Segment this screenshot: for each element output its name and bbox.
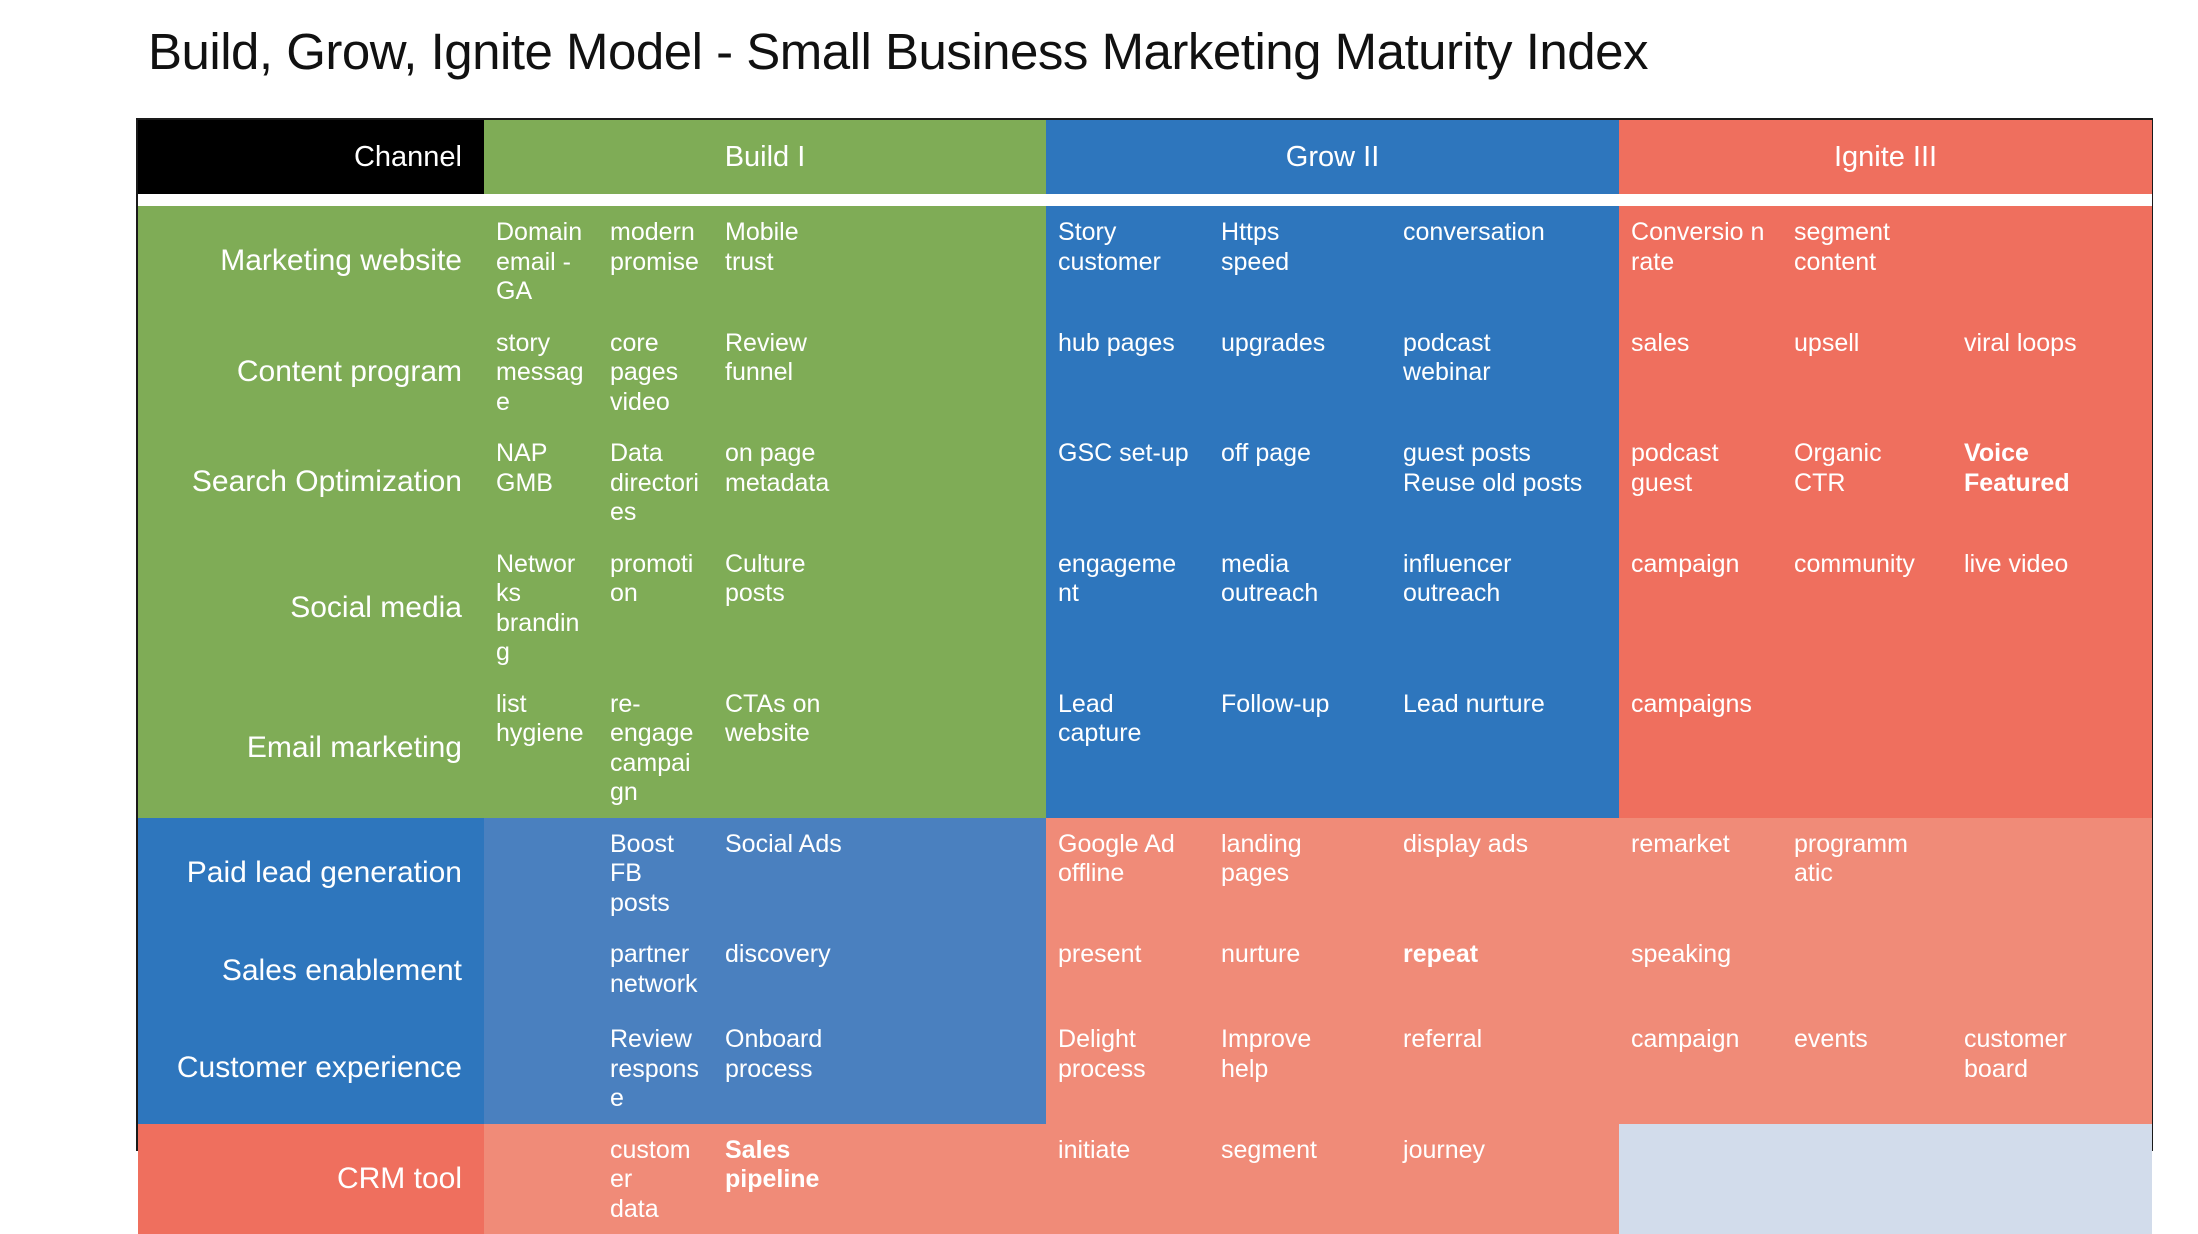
matrix-cell[interactable]: segmentcontent [1782, 206, 1952, 317]
matrix-cell[interactable]: on pagemetadata [713, 427, 1046, 538]
header-spacer-cell [138, 194, 2152, 206]
matrix-cell[interactable] [1782, 1124, 1952, 1234]
row-channel-label: Email marketing [138, 678, 484, 818]
header-group-build: Build I [484, 120, 1046, 194]
row-channel-label: Customer experience [138, 1013, 484, 1124]
maturity-matrix-table: Channel Build I Grow II Ignite III Marke… [138, 120, 2152, 1234]
table-row: Search OptimizationNAPGMBDatadirectories… [138, 427, 2152, 538]
matrix-cell[interactable]: storymessage [484, 317, 598, 428]
matrix-cell[interactable]: VoiceFeatured [1952, 427, 2152, 538]
row-channel-label: Search Optimization [138, 427, 484, 538]
matrix-cell[interactable]: GSC set-up [1046, 427, 1209, 538]
matrix-cell[interactable]: repeat [1391, 928, 1619, 1013]
table-row: Social mediaNetworksbrandingpromotionCul… [138, 538, 2152, 678]
matrix-cell[interactable]: landingpages [1209, 818, 1391, 929]
header-spacer-row [138, 194, 2152, 206]
matrix-cell[interactable]: discovery [713, 928, 1046, 1013]
matrix-cell[interactable]: Httpsspeed [1209, 206, 1391, 317]
matrix-cell[interactable] [484, 818, 598, 929]
matrix-cell[interactable]: Boost FBposts [598, 818, 713, 929]
matrix-cell[interactable]: campaign [1619, 538, 1782, 678]
table-row: Paid lead generationBoost FBpostsSocial … [138, 818, 2152, 929]
matrix-cell[interactable]: upsell [1782, 317, 1952, 428]
matrix-cell[interactable]: referral [1391, 1013, 1619, 1124]
matrix-cell[interactable]: listhygiene [484, 678, 598, 818]
matrix-cell[interactable]: partnernetwork [598, 928, 713, 1013]
matrix-cell[interactable] [1782, 678, 1952, 818]
matrix-cell[interactable]: re-engagecampaign [598, 678, 713, 818]
table-row: Marketing websiteDomainemail - GAmodernp… [138, 206, 2152, 317]
matrix-cell[interactable]: podcastguest [1619, 427, 1782, 538]
matrix-cell[interactable]: promotion [598, 538, 713, 678]
table-row: Customer experienceReviewresponseOnboard… [138, 1013, 2152, 1124]
header-group-grow: Grow II [1046, 120, 1619, 194]
matrix-cell[interactable]: modernpromise [598, 206, 713, 317]
matrix-cell[interactable]: Social Ads [713, 818, 1046, 929]
table-row: Email marketinglisthygienere-engagecampa… [138, 678, 2152, 818]
matrix-cell[interactable] [1952, 928, 2152, 1013]
matrix-cell[interactable]: core pagesvideo [598, 317, 713, 428]
matrix-cell[interactable] [1952, 818, 2152, 929]
table-header-row: Channel Build I Grow II Ignite III [138, 120, 2152, 194]
row-channel-label: Content program [138, 317, 484, 428]
matrix-cell[interactable]: Google Adoffline [1046, 818, 1209, 929]
matrix-cell[interactable]: present [1046, 928, 1209, 1013]
row-channel-label: CRM tool [138, 1124, 484, 1234]
matrix-cell[interactable]: Domainemail - GA [484, 206, 598, 317]
matrix-cell[interactable]: viral loops [1952, 317, 2152, 428]
matrix-cell[interactable]: Reviewfunnel [713, 317, 1046, 428]
matrix-cell[interactable]: Onboardprocess [713, 1013, 1046, 1124]
matrix-cell[interactable]: nurture [1209, 928, 1391, 1013]
table-row: CRM toolcustomerdataSalespipelineinitiat… [138, 1124, 2152, 1234]
matrix-cell[interactable]: Salespipeline [713, 1124, 1046, 1234]
matrix-cell[interactable]: Follow-up [1209, 678, 1391, 818]
matrix-cell[interactable]: hub pages [1046, 317, 1209, 428]
matrix-cell[interactable] [484, 1013, 598, 1124]
page-title: Build, Grow, Ignite Model - Small Busine… [148, 22, 1648, 81]
row-channel-label: Paid lead generation [138, 818, 484, 929]
matrix-cell[interactable]: campaign [1619, 1013, 1782, 1124]
matrix-cell[interactable] [1952, 206, 2152, 317]
row-channel-label: Sales enablement [138, 928, 484, 1013]
matrix-cell[interactable]: mediaoutreach [1209, 538, 1391, 678]
matrix-cell[interactable]: Delightprocess [1046, 1013, 1209, 1124]
matrix-cell[interactable]: remarket [1619, 818, 1782, 929]
table-row: Sales enablementpartnernetworkdiscoveryp… [138, 928, 2152, 1013]
matrix-cell[interactable]: CTAs onwebsite [713, 678, 1046, 818]
matrix-cell[interactable]: OrganicCTR [1782, 427, 1952, 538]
matrix-cell[interactable]: display ads [1391, 818, 1619, 929]
matrix-cell[interactable]: off page [1209, 427, 1391, 538]
matrix-cell[interactable]: Datadirectories [598, 427, 713, 538]
matrix-cell[interactable]: NAPGMB [484, 427, 598, 538]
header-channel: Channel [138, 120, 484, 194]
matrix-cell[interactable]: community [1782, 538, 1952, 678]
matrix-cell[interactable]: customerboard [1952, 1013, 2152, 1124]
matrix-cell[interactable]: influenceroutreach [1391, 538, 1619, 678]
matrix-cell[interactable]: guest postsReuse old posts [1391, 427, 1619, 538]
matrix-cell[interactable] [484, 928, 598, 1013]
header-group-ignite: Ignite III [1619, 120, 2152, 194]
matrix-cell[interactable] [1952, 1124, 2152, 1234]
matrix-cell[interactable]: engageme nt [1046, 538, 1209, 678]
matrix-cell[interactable]: Conversio n rate [1619, 206, 1782, 317]
slide-canvas: Build, Grow, Ignite Model - Small Busine… [0, 0, 2198, 1234]
matrix-cell[interactable]: segment [1209, 1124, 1391, 1234]
matrix-cell[interactable]: sales [1619, 317, 1782, 428]
matrix-cell[interactable]: Improvehelp [1209, 1013, 1391, 1124]
matrix-cell[interactable]: campaigns [1619, 678, 1782, 818]
matrix-cell[interactable] [1619, 1124, 1782, 1234]
matrix-cell[interactable]: Cultureposts [713, 538, 1046, 678]
matrix-cell[interactable]: Networksbranding [484, 538, 598, 678]
matrix-cell[interactable]: live video [1952, 538, 2152, 678]
matrix-cell[interactable] [484, 1124, 598, 1234]
table-body: Marketing websiteDomainemail - GAmodernp… [138, 206, 2152, 1234]
matrix-cell[interactable]: programmatic [1782, 818, 1952, 929]
matrix-cell[interactable]: speaking [1619, 928, 1782, 1013]
matrix-cell[interactable] [1952, 678, 2152, 818]
table-row: Content programstorymessagecore pagesvid… [138, 317, 2152, 428]
matrix-cell[interactable]: Mobiletrust [713, 206, 1046, 317]
matrix-cell[interactable]: events [1782, 1013, 1952, 1124]
matrix-cell[interactable]: Leadcapture [1046, 678, 1209, 818]
matrix-cell[interactable]: Storycustomer [1046, 206, 1209, 317]
matrix-cell[interactable]: Lead nurture [1391, 678, 1619, 818]
matrix-cell[interactable]: conversation [1391, 206, 1619, 317]
matrix-cell[interactable]: Reviewresponse [598, 1013, 713, 1124]
matrix-cell[interactable]: customerdata [598, 1124, 713, 1234]
matrix-cell[interactable]: journey [1391, 1124, 1619, 1234]
matrix-cell[interactable]: upgrades [1209, 317, 1391, 428]
matrix-cell[interactable] [1782, 928, 1952, 1013]
matrix-cell[interactable]: podcastwebinar [1391, 317, 1619, 428]
row-channel-label: Marketing website [138, 206, 484, 317]
row-channel-label: Social media [138, 538, 484, 678]
matrix-cell[interactable]: initiate [1046, 1124, 1209, 1234]
